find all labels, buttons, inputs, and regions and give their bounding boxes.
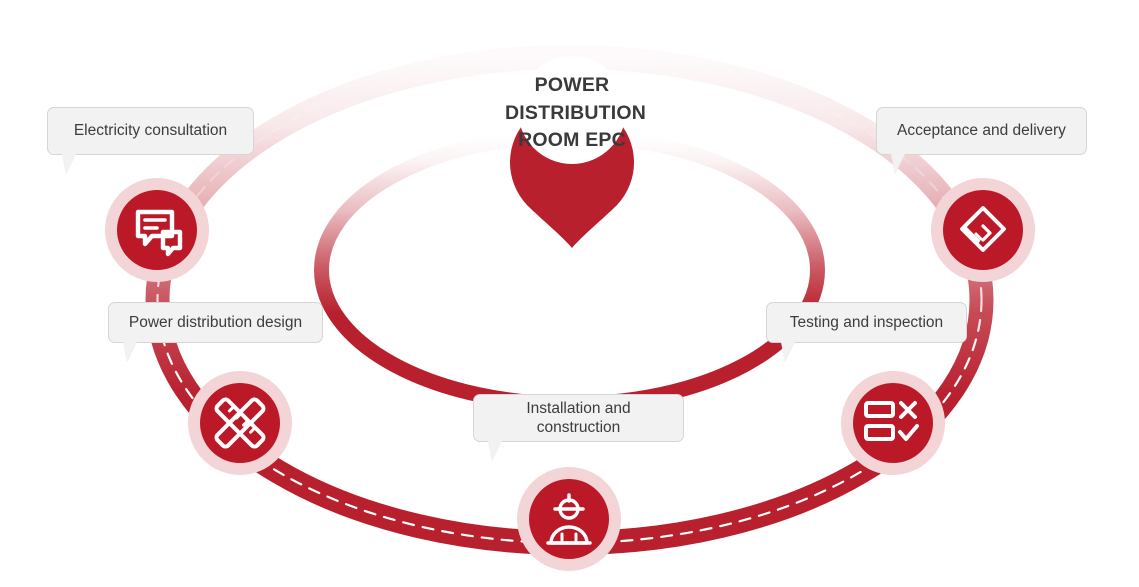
label-testing-inspection[interactable]: Testing and inspection — [766, 302, 967, 343]
label-text: Testing and inspection — [790, 313, 943, 332]
label-text: Electricity consultation — [74, 121, 227, 140]
label-text: Acceptance and delivery — [897, 121, 1066, 140]
label-installation-construction[interactable]: Installation and construction — [473, 394, 684, 442]
label-electricity-consultation[interactable]: Electricity consultation — [47, 107, 254, 155]
label-line-1: Installation and — [526, 400, 630, 417]
label-power-distribution-design[interactable]: Power distribution design — [108, 302, 323, 343]
label-text: Installation and construction — [526, 399, 630, 437]
callout-tail — [488, 441, 502, 461]
node-hit-acceptance-delivery[interactable] — [931, 178, 1035, 282]
callout-tail — [123, 342, 137, 362]
callout-tail — [891, 154, 905, 174]
callout-tail — [62, 154, 76, 174]
label-acceptance-delivery[interactable]: Acceptance and delivery — [876, 107, 1087, 155]
node-hit-testing-inspection[interactable] — [841, 371, 945, 475]
diagram-canvas: POWER DISTRIBUTION ROOM EPC Electricity … — [0, 0, 1139, 587]
label-line-2: construction — [537, 419, 621, 436]
callout-tail — [781, 342, 795, 362]
node-hit-installation-construction[interactable] — [517, 467, 621, 571]
label-text: Power distribution design — [129, 313, 302, 332]
node-hit-electricity-consultation[interactable] — [105, 178, 209, 282]
center-pin-marker — [510, 56, 634, 248]
node-hit-power-distribution-design[interactable] — [188, 371, 292, 475]
